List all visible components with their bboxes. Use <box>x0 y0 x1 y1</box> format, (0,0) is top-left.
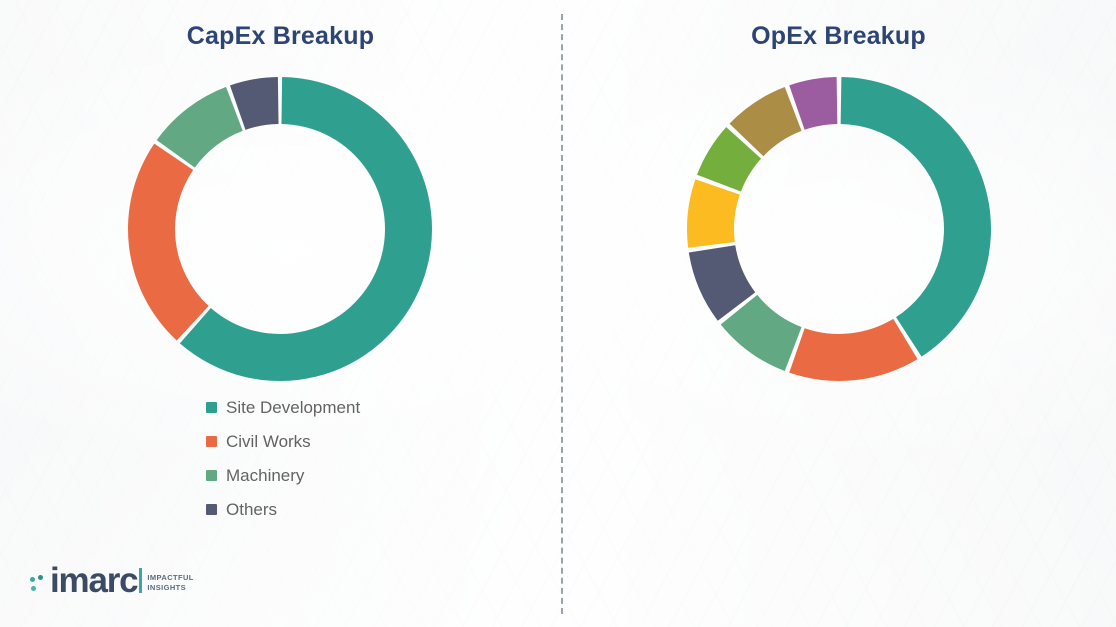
capex-title: CapEx Breakup <box>0 22 561 51</box>
donut-slice <box>841 77 991 357</box>
opex-donut-svg <box>683 73 995 385</box>
opex-title: OpEx Breakup <box>561 22 1116 51</box>
donut-slice <box>687 179 740 248</box>
legend-label: Civil Works <box>226 433 311 450</box>
capex-legend: Site DevelopmentCivil WorksMachineryOthe… <box>206 390 360 526</box>
logo-dots-icon <box>30 575 48 597</box>
legend-label: Machinery <box>226 467 304 484</box>
legend-item[interactable]: Civil Works <box>206 424 360 458</box>
logo-bar-icon <box>139 568 142 593</box>
opex-donut-chart <box>683 73 995 385</box>
capex-donut-chart <box>124 73 436 385</box>
legend-swatch-icon <box>206 402 217 413</box>
panel-divider <box>561 14 563 614</box>
logo-tagline-line2: INSIGHTS <box>147 583 193 593</box>
imarc-logo: imarc IMPACTFUL INSIGHTS <box>30 565 194 597</box>
logo-tagline-line1: IMPACTFUL <box>147 573 193 583</box>
logo-tagline: IMPACTFUL INSIGHTS <box>147 573 193 593</box>
logo-wordmark: imarc <box>50 565 137 597</box>
donut-slice <box>789 319 917 381</box>
legend-label: Others <box>226 501 277 518</box>
capex-slice-group <box>128 77 432 381</box>
legend-item[interactable]: Others <box>206 492 360 526</box>
donut-slice <box>128 144 209 341</box>
legend-item[interactable]: Site Development <box>206 390 360 424</box>
capex-panel: CapEx Breakup Site DevelopmentCivil Work… <box>0 0 561 627</box>
legend-swatch-icon <box>206 470 217 481</box>
opex-panel: OpEx Breakup Raw MaterialsSalaries and W… <box>561 0 1116 627</box>
opex-slice-group <box>687 77 991 381</box>
legend-item[interactable]: Machinery <box>206 458 360 492</box>
legend-swatch-icon <box>206 436 217 447</box>
chart-stage: CapEx Breakup Site DevelopmentCivil Work… <box>0 0 1116 627</box>
legend-label: Site Development <box>226 399 360 416</box>
capex-donut-svg <box>124 73 436 385</box>
legend-swatch-icon <box>206 504 217 515</box>
